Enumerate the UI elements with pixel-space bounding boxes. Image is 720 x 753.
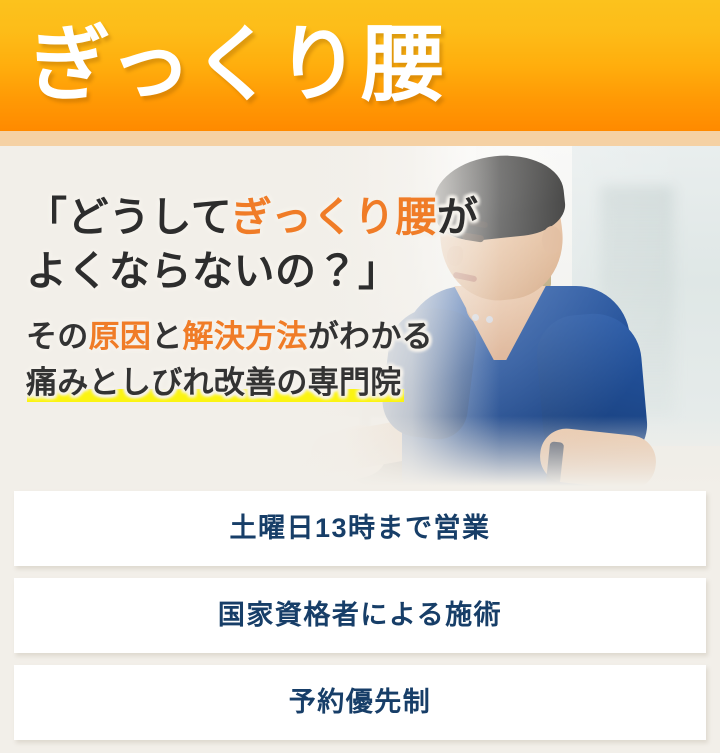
hero-subcopy: その原因と解決方法がわかる痛みとしびれ改善の専門院 (0, 298, 500, 406)
feature-card-reservation-priority[interactable]: 予約優先制 (14, 665, 706, 740)
feature-list: 土曜日13時まで営業 国家資格者による施術 予約優先制 (0, 491, 720, 740)
subcopy-line-2-wrap: 痛みとしびれ改善の専門院 (26, 360, 500, 406)
hero-copy: 「どうしてぎっくり腰がよくならないの？」 その原因と解決方法がわかる痛みとしびれ… (0, 146, 500, 406)
page-title: ぎっくり腰 (28, 9, 445, 121)
landing-page: ぎっくり腰 (0, 0, 720, 753)
headline-line-2: よくならないの？」 (26, 244, 500, 298)
practitioner-ear (542, 226, 562, 254)
hero-headline: 「どうしてぎっくり腰がよくならないの？」 (0, 146, 500, 298)
subcopy-line-2-text: 痛みとしびれ改善の専門院 (26, 365, 402, 400)
subcopy-line-2: 痛みとしびれ改善の専門院 (26, 360, 402, 406)
subcopy-line-1: その原因と解決方法がわかる (26, 314, 500, 360)
headline-highlight: ぎっくり腰 (231, 194, 437, 240)
feature-label: 国家資格者による施術 (218, 602, 502, 629)
subcopy-text-2: と (151, 319, 182, 354)
feature-card-licensed-practitioner[interactable]: 国家資格者による施術 (14, 578, 706, 653)
subcopy-text-3: がわかる (308, 319, 433, 354)
feature-card-saturday-hours[interactable]: 土曜日13時まで営業 (14, 491, 706, 566)
feature-label: 土曜日13時まで営業 (229, 515, 490, 542)
feature-label: 予約優先制 (289, 689, 432, 716)
headline-text-before: 「どうして (26, 194, 231, 240)
subcopy-text-1: その (26, 319, 89, 354)
headline-line-1: 「どうしてぎっくり腰が (26, 190, 500, 244)
header-banner: ぎっくり腰 (0, 0, 720, 131)
headline-text-after: が (437, 194, 479, 240)
header-underbar (0, 131, 720, 146)
subcopy-highlight-solution: 解決方法 (183, 319, 308, 354)
subcopy-highlight-cause: 原因 (89, 319, 152, 354)
